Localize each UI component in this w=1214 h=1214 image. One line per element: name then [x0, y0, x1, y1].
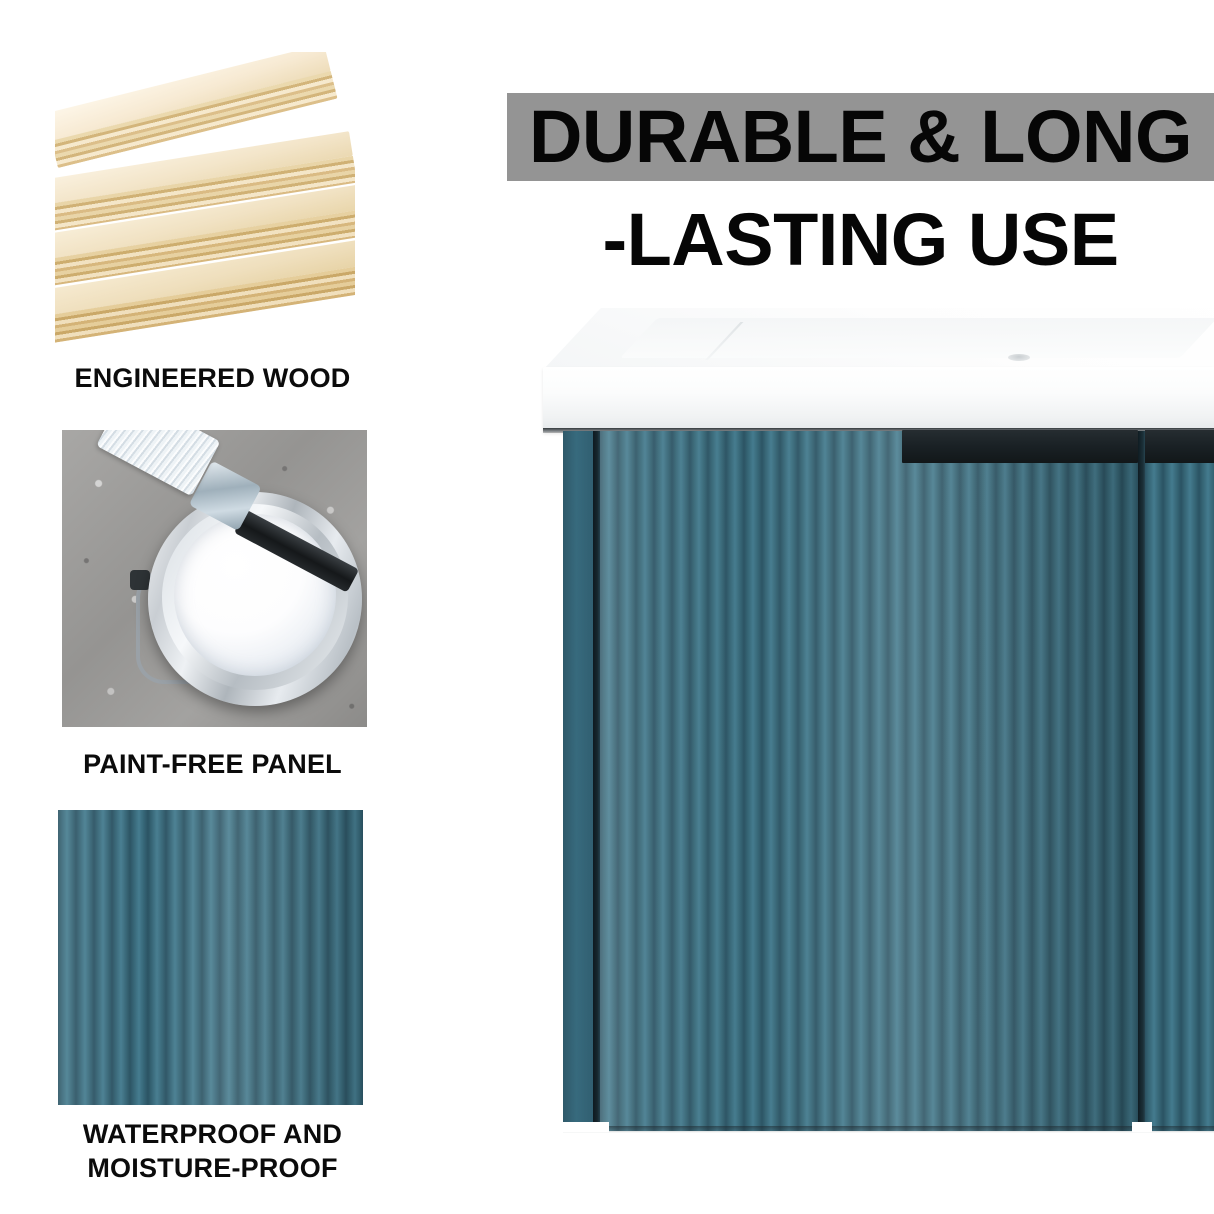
caption-engineered-wood: ENGINEERED WOOD [25, 362, 400, 395]
cabinet-door-gap [1138, 431, 1145, 1131]
fluted-panel-swatch-image [58, 810, 363, 1105]
caption-waterproof-line-2: MOISTURE-PROOF [25, 1152, 400, 1185]
headline-line-1: DURABLE & LONG [507, 93, 1214, 181]
paint-can-image [62, 430, 367, 727]
countertop-front-edge [543, 367, 1214, 432]
drawer-handle-bar [902, 430, 1138, 463]
drawer-handle-bar-right [1145, 430, 1214, 463]
cabinet-side-panel [563, 431, 593, 1131]
cabinet-bottom-notch [1132, 1122, 1152, 1132]
cabinet-bottom-shadow [563, 1126, 1214, 1133]
integrated-basin [620, 318, 1214, 358]
headline-line-2: -LASTING USE [507, 196, 1214, 284]
cabinet-fluted-front-left [600, 431, 1138, 1131]
cabinet-bottom-notch [563, 1122, 609, 1132]
caption-paint-free-panel: PAINT-FREE PANEL [25, 748, 400, 781]
plywood-stack-image [55, 52, 355, 354]
cabinet-corner-seam [593, 431, 600, 1131]
faucet-hole [1008, 354, 1030, 361]
cabinet-fluted-front-right [1145, 431, 1214, 1131]
vanity-product-image [500, 300, 1214, 1160]
caption-waterproof-line-1: WATERPROOF AND [25, 1118, 400, 1151]
can-handle-lug [130, 570, 150, 590]
promo-graphic: DURABLE & LONG -LASTING USE [0, 0, 1214, 1214]
flute-texture [58, 810, 363, 1105]
